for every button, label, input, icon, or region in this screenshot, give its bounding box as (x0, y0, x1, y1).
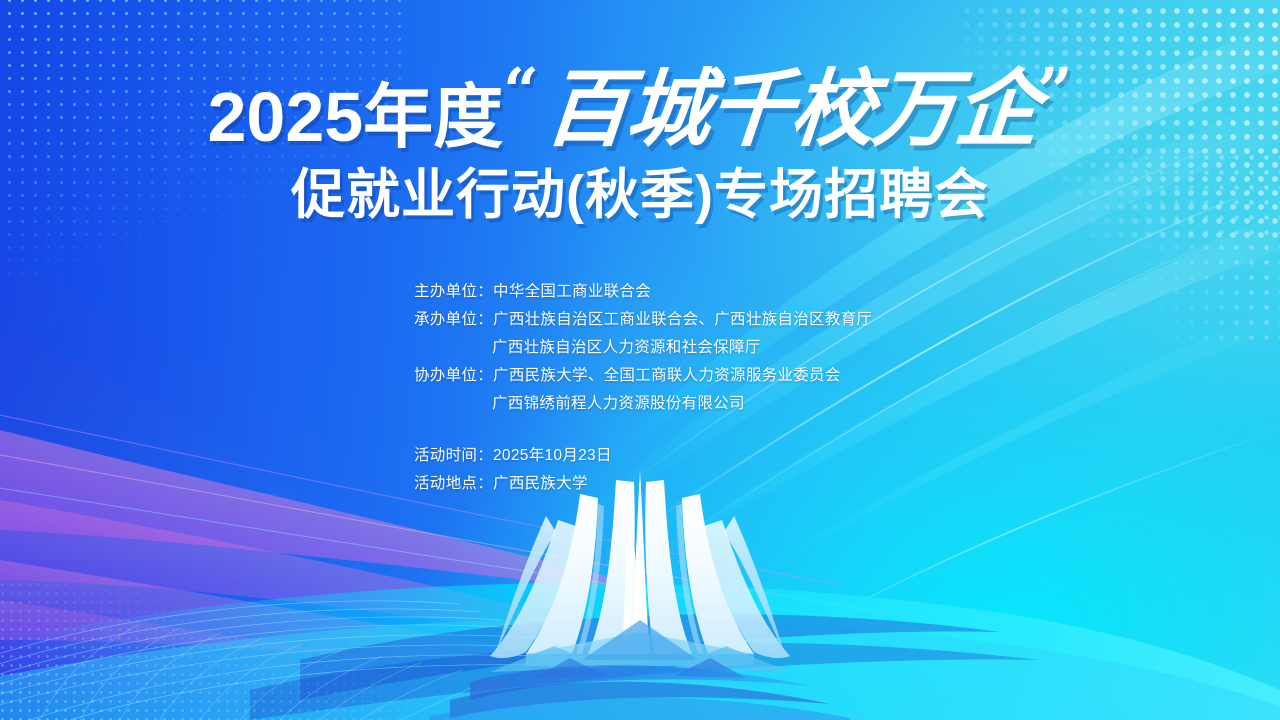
organizer-value: 中华全国工商业联合会 (493, 283, 651, 300)
title-subtitle: 促就业行动(秋季)专场招聘会 (0, 164, 1280, 226)
info-row-host-2: 广西壮族自治区人力资源和社会保障厅 (414, 334, 872, 362)
title-brand-calligraphy: 百城千校万企 (541, 67, 1040, 151)
info-row-coorganizer: 协办单位：广西民族大学、全国工商联人力资源服务业委员会 (414, 362, 872, 390)
event-info-block: 主办单位：中华全国工商业联合会 承办单位：广西壮族自治区工商业联合会、广西壮族自… (414, 278, 872, 498)
info-row-host: 承办单位：广西壮族自治区工商业联合会、广西壮族自治区教育厅 (414, 306, 872, 334)
quote-open-mark: “ (503, 60, 539, 122)
quote-close-mark: ” (1037, 60, 1073, 122)
info-row-time: 活动时间：2025年10月23日 (414, 442, 872, 470)
nanning-landmark-building-icon (430, 460, 850, 720)
coorganizer-value-1: 广西民族大学、全国工商联人力资源服务业委员会 (493, 367, 841, 384)
poster-canvas: 2025年度 “ 百城千校万企 ” 促就业行动(秋季)专场招聘会 主办单位：中华… (0, 0, 1280, 720)
host-value-2: 广西壮族自治区人力资源和社会保障厅 (492, 339, 761, 356)
coorganizer-label: 协办单位： (414, 367, 493, 384)
info-row-place: 活动地点：广西民族大学 (414, 470, 872, 498)
organizer-label: 主办单位： (414, 283, 493, 300)
time-value: 2025年10月23日 (493, 447, 612, 464)
poster-title-block: 2025年度 “ 百城千校万企 ” 促就业行动(秋季)专场招聘会 (0, 62, 1280, 226)
title-line-primary: 2025年度 “ 百城千校万企 ” (0, 62, 1280, 160)
coorganizer-value-2: 广西锦绣前程人力资源股份有限公司 (492, 395, 745, 412)
info-row-organizer: 主办单位：中华全国工商业联合会 (414, 278, 872, 306)
host-value-1: 广西壮族自治区工商业联合会、广西壮族自治区教育厅 (493, 311, 872, 328)
place-value: 广西民族大学 (493, 475, 588, 492)
place-label: 活动地点： (414, 475, 493, 492)
time-label: 活动时间： (414, 447, 493, 464)
host-label: 承办单位： (414, 311, 493, 328)
info-row-coorganizer-2: 广西锦绣前程人力资源股份有限公司 (414, 390, 872, 418)
info-spacer (414, 418, 872, 442)
title-year: 2025年度 (207, 82, 503, 152)
